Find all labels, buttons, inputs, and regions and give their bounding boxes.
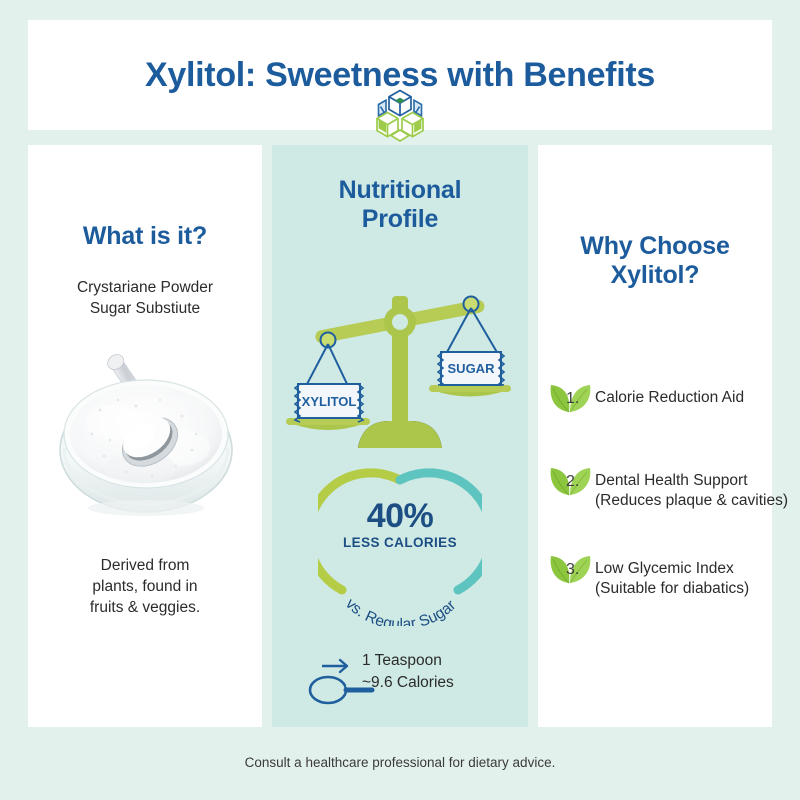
gauge-caption: LESS CALORIES (318, 535, 482, 550)
serving-info: 1 Teaspoon ~9.6 Calories (362, 650, 512, 695)
subtitle-line-2: Sugar Substiute (28, 299, 262, 320)
scale-right-label: SUGAR (448, 361, 496, 376)
list-item: 3. Low Glycemic Index (Suitable for diab… (548, 559, 796, 600)
powder-bowl-image (40, 330, 252, 520)
footer-line-3: fruits & veggies. (28, 598, 262, 619)
left-column-subtitle: Crystariane Powder Sugar Substiute (28, 278, 262, 320)
hexagon-cube-cluster-icon (364, 84, 436, 146)
benefit-detail: (Reduces plaque & cavities) (595, 491, 796, 511)
list-item: 2. Dental Health Support (Reduces plaque… (548, 471, 796, 512)
right-column-heading: Why Choose Xylitol? (538, 232, 772, 290)
gauge-value: 40% (318, 497, 482, 536)
serving-line-2: ~9.6 Calories (362, 672, 512, 694)
benefit-text: Dental Health Support (Reduces plaque & … (595, 471, 796, 512)
serving-line-1: 1 Teaspoon (362, 650, 512, 672)
right-heading-line-2: Xylitol? (538, 261, 772, 290)
benefit-title: Low Glycemic Index (595, 560, 734, 577)
infographic-root: Xylitol: Sweetness with Benefits (0, 0, 800, 800)
center-heading-line-1: Nutritional (272, 176, 528, 205)
footer-disclaimer: Consult a healthcare professional for di… (0, 755, 800, 770)
right-heading-line-1: Why Choose (538, 232, 772, 261)
gauge-arc-caption: vs. Regular Sugar (342, 595, 459, 626)
benefit-title: Calorie Reduction Aid (595, 389, 744, 406)
benefit-number: 2. (566, 473, 579, 491)
left-column-footer-text: Derived from plants, found in fruits & v… (28, 556, 262, 619)
scale-left-label: XYLITOL (302, 394, 357, 409)
benefit-number: 3. (566, 561, 579, 579)
benefit-number: 1. (566, 390, 579, 408)
left-column-heading: What is it? (28, 222, 262, 251)
footer-line-2: plants, found in (28, 577, 262, 598)
benefits-list: 1. Calorie Reduction Aid 2. Dental Healt… (548, 388, 796, 647)
benefit-text: Low Glycemic Index (Suitable for diabati… (595, 559, 796, 600)
subtitle-line-1: Crystariane Powder (28, 278, 262, 299)
benefit-title: Dental Health Support (595, 472, 748, 489)
benefit-text: Calorie Reduction Aid (595, 388, 796, 408)
footer-line-1: Derived from (28, 556, 262, 577)
center-column-heading: Nutritional Profile (272, 176, 528, 234)
balance-scale-icon: XYLITOL SUGAR (286, 282, 514, 454)
list-item: 1. Calorie Reduction Aid (548, 388, 796, 424)
center-heading-line-2: Profile (272, 205, 528, 234)
benefit-detail: (Suitable for diabatics) (595, 579, 796, 599)
